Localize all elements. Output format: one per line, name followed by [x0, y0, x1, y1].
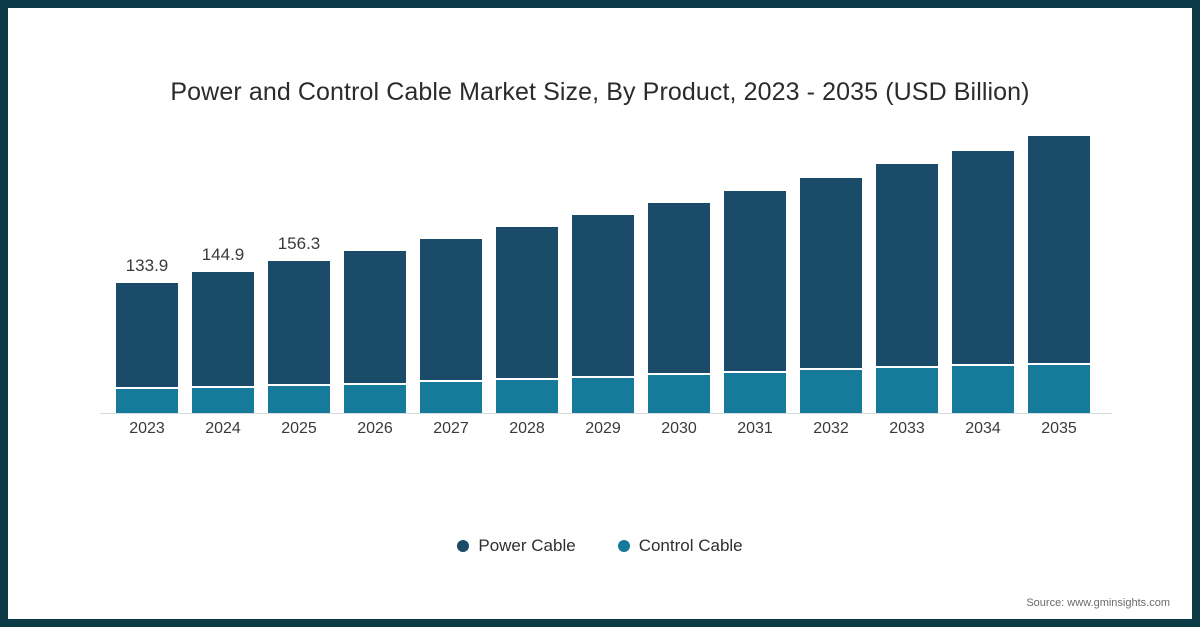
bar-segment-control-cable-2032[interactable] [800, 370, 862, 413]
bar-segment-power-cable-2033[interactable] [876, 164, 938, 368]
bar-2033[interactable] [876, 164, 938, 413]
bar-segment-control-cable-2029[interactable] [572, 378, 634, 413]
bar-segment-control-cable-2023[interactable] [116, 389, 178, 413]
bar-segment-power-cable-2028[interactable] [496, 227, 558, 380]
legend-item-power-cable[interactable]: Power Cable [457, 536, 575, 556]
bar-segment-power-cable-2024[interactable] [192, 272, 254, 388]
x-tick-2031: 2031 [724, 420, 786, 438]
bar-segment-power-cable-2035[interactable] [1028, 136, 1090, 365]
x-tick-2025: 2025 [268, 420, 330, 438]
source-attribution: Source: www.gminsights.com [1026, 597, 1170, 609]
x-tick-2024: 2024 [192, 420, 254, 438]
chart-title: Power and Control Cable Market Size, By … [8, 78, 1192, 107]
bar-2025[interactable] [268, 261, 330, 413]
x-tick-2030: 2030 [648, 420, 710, 438]
bar-2028[interactable] [496, 227, 558, 413]
x-tick-2032: 2032 [800, 420, 862, 438]
bar-2024[interactable] [192, 272, 254, 413]
bar-segment-control-cable-2035[interactable] [1028, 365, 1090, 413]
bar-2034[interactable] [952, 151, 1014, 413]
bar-segment-control-cable-2034[interactable] [952, 366, 1014, 413]
x-tick-2033: 2033 [876, 420, 938, 438]
bar-value-label-2025: 156.3 [254, 234, 344, 254]
bar-2031[interactable] [724, 191, 786, 413]
chart-canvas: Power and Control Cable Market Size, By … [8, 8, 1192, 619]
chart-legend: Power CableControl Cable [8, 536, 1192, 556]
bar-segment-control-cable-2027[interactable] [420, 382, 482, 413]
bar-segment-power-cable-2026[interactable] [344, 251, 406, 385]
bar-2035[interactable] [1028, 136, 1090, 413]
bar-segment-control-cable-2028[interactable] [496, 380, 558, 413]
legend-dot-icon-control-cable [618, 540, 630, 552]
bar-segment-power-cable-2031[interactable] [724, 191, 786, 373]
bar-2030[interactable] [648, 203, 710, 413]
bar-segment-control-cable-2030[interactable] [648, 375, 710, 413]
legend-label: Power Cable [478, 536, 575, 556]
bar-segment-power-cable-2034[interactable] [952, 151, 1014, 366]
legend-dot-icon-power-cable [457, 540, 469, 552]
chart-page: Power and Control Cable Market Size, By … [0, 0, 1200, 627]
bar-segment-power-cable-2023[interactable] [116, 283, 178, 389]
bar-segment-control-cable-2031[interactable] [724, 373, 786, 413]
bar-segment-control-cable-2026[interactable] [344, 385, 406, 413]
bar-2026[interactable] [344, 251, 406, 413]
x-tick-2023: 2023 [116, 420, 178, 438]
bar-segment-control-cable-2025[interactable] [268, 386, 330, 413]
bar-segment-control-cable-2033[interactable] [876, 368, 938, 413]
bar-segment-power-cable-2032[interactable] [800, 178, 862, 370]
x-tick-2026: 2026 [344, 420, 406, 438]
x-tick-2034: 2034 [952, 420, 1014, 438]
bar-2032[interactable] [800, 178, 862, 413]
bar-2023[interactable] [116, 283, 178, 413]
x-axis-baseline [100, 413, 1112, 414]
x-tick-2029: 2029 [572, 420, 634, 438]
bar-segment-power-cable-2029[interactable] [572, 215, 634, 378]
bar-segment-power-cable-2030[interactable] [648, 203, 710, 375]
bar-2027[interactable] [420, 239, 482, 413]
bar-segment-power-cable-2025[interactable] [268, 261, 330, 386]
bar-segment-power-cable-2027[interactable] [420, 239, 482, 382]
bar-segment-control-cable-2024[interactable] [192, 388, 254, 413]
x-tick-2027: 2027 [420, 420, 482, 438]
legend-label: Control Cable [639, 536, 743, 556]
bar-2029[interactable] [572, 215, 634, 413]
legend-item-control-cable[interactable]: Control Cable [618, 536, 743, 556]
x-tick-2028: 2028 [496, 420, 558, 438]
x-tick-2035: 2035 [1028, 420, 1090, 438]
